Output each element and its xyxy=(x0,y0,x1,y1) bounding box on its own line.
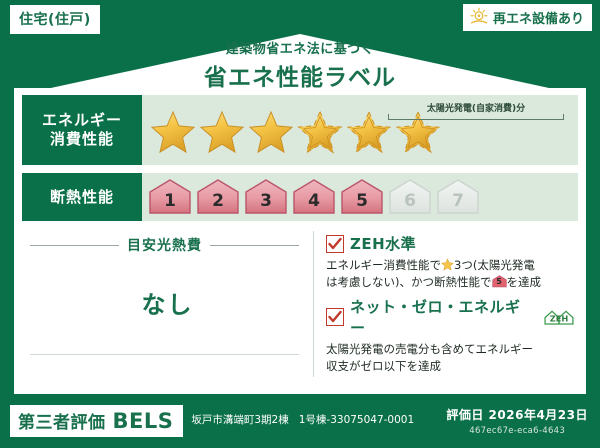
renewable-equipment-label: 再エネ設備あり xyxy=(493,8,584,27)
utility-cost-value: なし xyxy=(22,285,313,320)
star-icon-solar xyxy=(346,110,392,154)
zeh-standard-title: ZEH水準 xyxy=(350,233,416,254)
property-address-block: 坂戸市溝端町3期2棟 1号棟-33075047-0001 xyxy=(191,414,414,428)
insulation-level-value: 7 xyxy=(452,191,464,215)
document-id: 467ec67e-eca6-4643 xyxy=(446,426,588,436)
energy-performance-label-line2: 消費性能 xyxy=(50,130,114,149)
renewable-equipment-badge: 再エネ設備あり xyxy=(463,4,592,31)
sun-icon xyxy=(469,7,489,27)
building-type-label: 住宅(住戸) xyxy=(19,12,91,28)
insulation-level-house: 1 xyxy=(148,179,192,215)
label-footer: 第三者評価 BELS 坂戸市溝端町3期2棟 1号棟-33075047-0001 … xyxy=(0,394,600,448)
utility-cost-rule-right xyxy=(210,245,299,246)
zeh-badge-level: 5 xyxy=(492,276,507,288)
mini-star-icon xyxy=(441,258,454,272)
zeh-desc-part2: (太陽光発電 xyxy=(473,258,535,272)
energy-performance-value: 太陽光発電(自家消費)分 xyxy=(142,95,578,165)
solar-bracket-tick-right xyxy=(563,114,564,120)
solar-bracket-tick-left xyxy=(388,114,389,120)
label-header: 住宅(住戸) 再エネ設備あり xyxy=(0,0,600,96)
nze-desc-part1: 太陽光発電の売電分も含めてエネルギー xyxy=(326,342,533,356)
title-main: 省エネ性能ラベル xyxy=(0,58,600,92)
zeh-standard-description: エネルギー消費性能で3つ(太陽光発電は考慮しない)、かつ断熱性能で5を達成 xyxy=(326,257,578,290)
insulation-level-value: 5 xyxy=(356,191,368,215)
energy-performance-key: エネルギー 消費性能 xyxy=(22,95,142,165)
utility-cost-bottom-rule xyxy=(30,354,299,355)
insulation-level-house: 4 xyxy=(292,179,336,215)
building-type-badge: 住宅(住戸) xyxy=(10,5,100,34)
insulation-level-scale: 1 2 3 4 5 xyxy=(142,179,480,215)
zeh-standard-header: ZEH水準 xyxy=(326,233,578,254)
insulation-level-value: 2 xyxy=(212,191,224,215)
evaluation-date: 評価日 2026年4月23日 xyxy=(446,406,588,423)
checkmark-icon xyxy=(326,308,344,326)
property-building-no: 1号棟-33075047-0001 xyxy=(299,414,414,428)
zeh-standard-check: ZEH水準 エネルギー消費性能で3つ(太陽光発電は考慮しない)、かつ断熱性能で5… xyxy=(326,233,578,290)
utility-cost-label: 目安光熱費 xyxy=(127,235,202,255)
insulation-level-value: 4 xyxy=(308,191,320,215)
zeh-logo-icon: ZEH xyxy=(540,307,578,327)
net-zero-energy-header: ネット・ゼロ・エネルギー ZEH xyxy=(326,296,578,338)
insulation-level-house: 3 xyxy=(244,179,288,215)
utility-cost-heading: 目安光熱費 xyxy=(30,235,299,255)
insulation-performance-value: 1 2 3 4 5 xyxy=(142,173,578,221)
bels-brand: BELS xyxy=(113,409,174,433)
evaluation-date-block: 評価日 2026年4月23日 467ec67e-eca6-4643 xyxy=(446,406,588,436)
evaluation-date-value: 2026年4月23日 xyxy=(489,408,588,422)
label-title: 建築物省エネ法に基づく 省エネ性能ラベル xyxy=(0,38,600,92)
nze-desc-part2: 収支がゼロ以下を達成 xyxy=(326,359,441,373)
insulation-level-house: 2 xyxy=(196,179,240,215)
zeh-star-count: 3つ xyxy=(454,258,473,272)
star-icon-solid xyxy=(199,110,245,154)
energy-performance-row: エネルギー 消費性能 xyxy=(22,95,578,165)
insulation-level-value: 1 xyxy=(164,191,176,215)
star-icon-solar xyxy=(297,110,343,154)
energy-performance-label: 住宅(住戸) 再エネ設備あり xyxy=(0,0,600,448)
label-lower-section: 目安光熱費 なし ZEH水準 エネルギー消 xyxy=(22,231,578,377)
evaluation-date-label: 評価日 xyxy=(446,408,484,422)
checkmark-icon xyxy=(326,235,344,253)
insulation-performance-label: 断熱性能 xyxy=(50,188,114,207)
third-party-evaluation-label: 第三者評価 xyxy=(18,408,106,433)
solar-bracket-label: 太陽光発電(自家消費)分 xyxy=(388,101,564,114)
certification-checks-panel: ZEH水準 エネルギー消費性能で3つ(太陽光発電は考慮しない)、かつ断熱性能で5… xyxy=(314,231,578,377)
energy-performance-label-line1: エネルギー xyxy=(42,111,122,130)
svg-text:ZEH: ZEH xyxy=(550,314,569,324)
net-zero-energy-title: ネット・ゼロ・エネルギー xyxy=(350,296,534,338)
solar-bracket-line xyxy=(388,119,564,120)
insulation-performance-row: 断熱性能 1 xyxy=(22,173,578,221)
zeh-desc-part4: を達成 xyxy=(507,275,542,289)
utility-cost-panel: 目安光熱費 なし xyxy=(22,231,314,377)
zeh-desc-part1: エネルギー消費性能で xyxy=(326,258,441,272)
insulation-performance-key: 断熱性能 xyxy=(22,173,142,221)
insulation-level-house-inactive: 7 xyxy=(436,179,480,215)
insulation-level-value: 3 xyxy=(260,191,272,215)
label-body-card: エネルギー 消費性能 xyxy=(14,88,586,394)
star-icon-solid xyxy=(150,110,196,154)
zeh-desc-part3: は考慮しない)、かつ断熱性能で xyxy=(326,275,492,289)
bels-badge: 第三者評価 BELS xyxy=(10,405,183,437)
net-zero-energy-description: 太陽光発電の売電分も含めてエネルギー収支がゼロ以下を達成 xyxy=(326,341,578,374)
utility-cost-rule-left xyxy=(30,245,119,246)
property-address: 坂戸市溝端町3期2棟 xyxy=(191,414,288,428)
title-subtitle: 建築物省エネ法に基づく xyxy=(0,38,600,57)
mini-house-badge-icon: 5 xyxy=(492,275,507,288)
insulation-level-value: 6 xyxy=(404,191,416,215)
insulation-level-house-inactive: 6 xyxy=(388,179,432,215)
insulation-level-house: 5 xyxy=(340,179,384,215)
solar-bracket: 太陽光発電(自家消費)分 xyxy=(388,101,564,123)
star-icon-solid xyxy=(248,110,294,154)
net-zero-energy-check: ネット・ゼロ・エネルギー ZEH 太陽光発電の売電分も含めてエネルギー収支がゼロ… xyxy=(326,296,578,374)
